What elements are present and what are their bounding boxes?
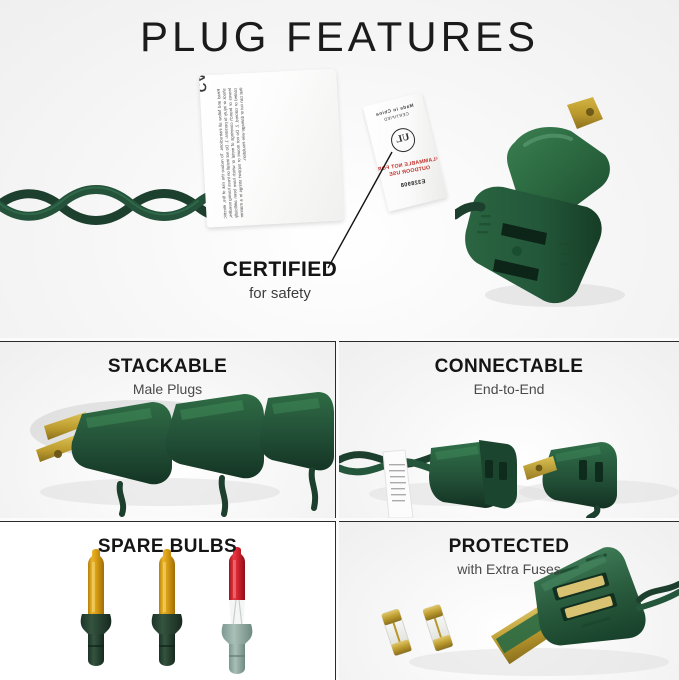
panel-connectable-subheading: End-to-End: [339, 381, 679, 397]
panel-stackable: STACKABLE Male Plugs: [0, 341, 336, 518]
panel-stackable-heading: STACKABLE: [0, 356, 335, 378]
panel-protected: PROTECTED with Extra Fuses: [339, 521, 679, 680]
panel-connectable-heading: CONNECTABLE: [339, 356, 679, 378]
panel-spare-bulbs-heading: SPARE BULBS: [0, 536, 335, 558]
panel-protected-subheading: with Extra Fuses: [339, 561, 679, 577]
panel-connectable: CONNECTABLE End-to-End: [339, 341, 679, 518]
plug-features-infographic: PLUG FEATURES Read and follow all instru…: [0, 0, 679, 679]
callout-headline: CERTIFIED: [0, 258, 560, 282]
page-title: PLUG FEATURES: [0, 16, 679, 58]
callout-subline: for safety: [0, 285, 560, 302]
panel-spare-bulbs: SPARE BULBS: [0, 521, 336, 680]
hero-panel: PLUG FEATURES Read and follow all instru…: [0, 0, 679, 338]
panel-stackable-subheading: Male Plugs: [0, 381, 335, 397]
certified-callout: CERTIFIED for safety: [0, 258, 560, 302]
callout-leader-line: [310, 150, 420, 275]
panel-protected-heading: PROTECTED: [339, 536, 679, 558]
